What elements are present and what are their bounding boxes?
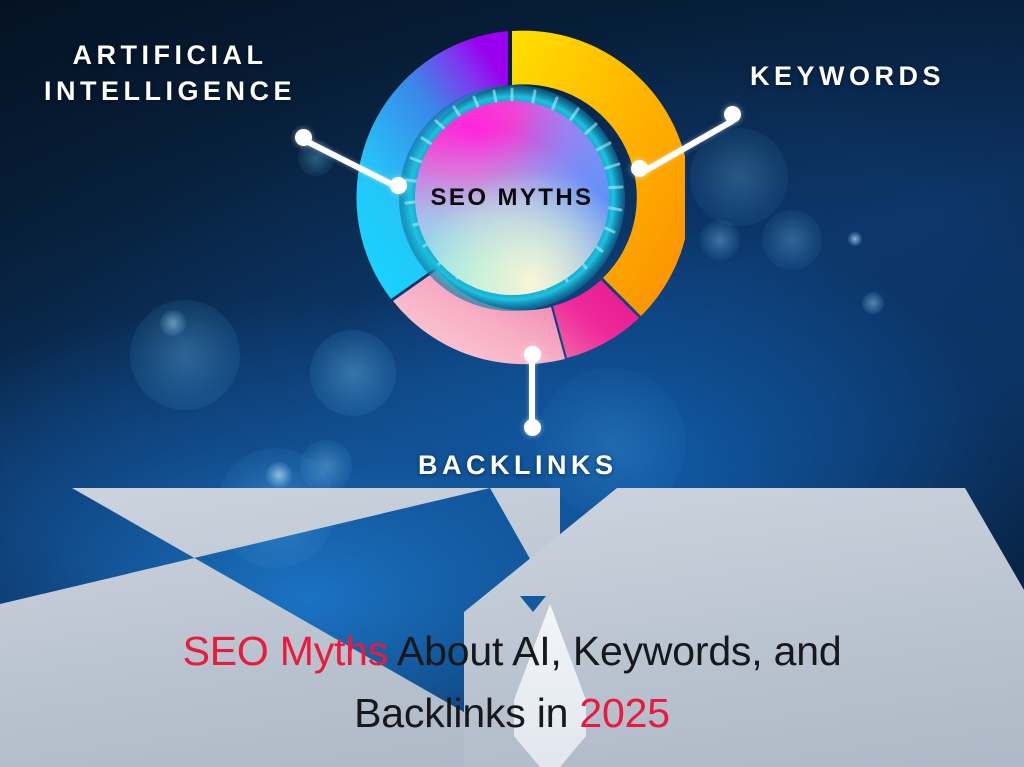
connector-dot-inner xyxy=(631,160,648,177)
label-line-1: ARTIFICIAL xyxy=(38,37,302,73)
connector-dot-outer xyxy=(295,129,312,146)
donut-core-cream-glow xyxy=(415,101,609,295)
headline-body-1: About AI, Keywords, and xyxy=(388,628,841,674)
label-line-1: BACKLINKS xyxy=(418,447,618,483)
connector-dot-outer xyxy=(524,419,541,436)
label-line-2: INTELLIGENCE xyxy=(38,73,302,109)
headline-accent-2: 2025 xyxy=(579,690,669,736)
headline-body-2: Backlinks in xyxy=(354,690,579,736)
connector-dot-inner xyxy=(524,346,541,363)
label-keywords: KEYWORDS xyxy=(750,58,945,94)
connector-dot-outer xyxy=(724,106,741,123)
label-line-1: KEYWORDS xyxy=(750,58,945,94)
infographic-canvas: SEO MYTHS ARTIFICIAL INTELLIGENCE KEYWOR… xyxy=(0,0,1024,767)
label-backlinks: BACKLINKS xyxy=(418,447,618,483)
connector-dot-inner xyxy=(390,177,407,194)
label-artificial-intelligence: ARTIFICIAL INTELLIGENCE xyxy=(38,37,302,109)
headline: SEO Myths About AI, Keywords, and Backli… xyxy=(0,620,1024,745)
connector-line xyxy=(529,355,535,429)
donut-chart xyxy=(339,25,685,371)
headline-accent-1: SEO Myths xyxy=(183,628,389,674)
